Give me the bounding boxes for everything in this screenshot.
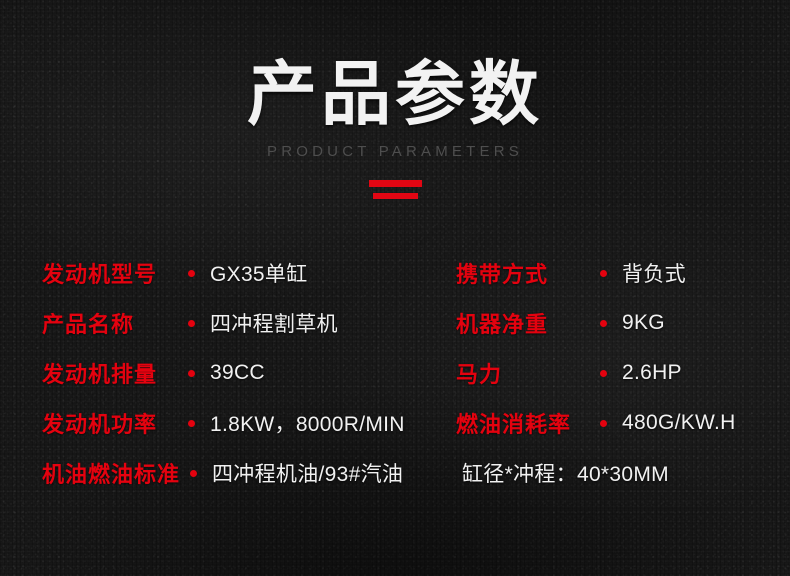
- divider-bar-bottom: [373, 193, 418, 199]
- bullet-icon: [188, 420, 195, 427]
- spec-value-bore-stroke: 缸径*冲程：40*30MM: [462, 458, 669, 488]
- spec-value: 2.6HP: [622, 361, 682, 385]
- bullet-icon: [188, 370, 195, 377]
- bullet-icon: [600, 370, 607, 377]
- bullet-icon: [188, 320, 195, 327]
- page-title: 产品参数: [0, 52, 790, 136]
- spec-list: 发动机型号 GX35单缸 携带方式 背负式 产品名称 四冲程割草机 机器净重: [0, 248, 790, 498]
- product-parameters-banner: 产品参数 PRODUCT PARAMETERS 发动机型号 GX35单缸 携带方…: [0, 0, 790, 576]
- spec-item-oil-fuel-standard: 机油燃油标准 四冲程机油/93#汽油 缸径*冲程：40*30MM: [0, 448, 790, 498]
- spec-value: 9KG: [622, 311, 665, 335]
- divider-bar-top: [369, 180, 422, 187]
- spec-label: 机器净重: [456, 307, 548, 339]
- page-subtitle: PRODUCT PARAMETERS: [0, 143, 790, 161]
- spec-label: 发动机排量: [42, 357, 157, 389]
- spec-value: 四冲程机油/93#汽油: [212, 458, 403, 488]
- spec-value: 480G/KW.H: [622, 411, 736, 435]
- bullet-icon: [600, 320, 607, 327]
- bullet-icon: [600, 420, 607, 427]
- spec-value: 1.8KW，8000R/MIN: [210, 408, 405, 438]
- spec-label: 机油燃油标准: [42, 457, 180, 489]
- bullet-icon: [190, 470, 197, 477]
- spec-label: 产品名称: [42, 307, 134, 339]
- title-divider: [0, 180, 790, 206]
- spec-value: 四冲程割草机: [210, 308, 338, 338]
- spec-value: 39CC: [210, 361, 265, 385]
- spec-row: 发动机排量 39CC 马力 2.6HP: [0, 348, 790, 398]
- spec-row: 产品名称 四冲程割草机 机器净重 9KG: [0, 298, 790, 348]
- spec-label: 携带方式: [456, 257, 548, 289]
- spec-value: 背负式: [622, 258, 686, 288]
- spec-value: GX35单缸: [210, 258, 308, 288]
- spec-row: 发动机功率 1.8KW，8000R/MIN 燃油消耗率 480G/KW.H: [0, 398, 790, 448]
- bullet-icon: [600, 270, 607, 277]
- spec-row: 发动机型号 GX35单缸 携带方式 背负式: [0, 248, 790, 298]
- spec-label: 马力: [456, 357, 502, 389]
- spec-label: 燃油消耗率: [456, 407, 571, 439]
- spec-label: 发动机功率: [42, 407, 157, 439]
- spec-label: 发动机型号: [42, 257, 157, 289]
- bullet-icon: [188, 270, 195, 277]
